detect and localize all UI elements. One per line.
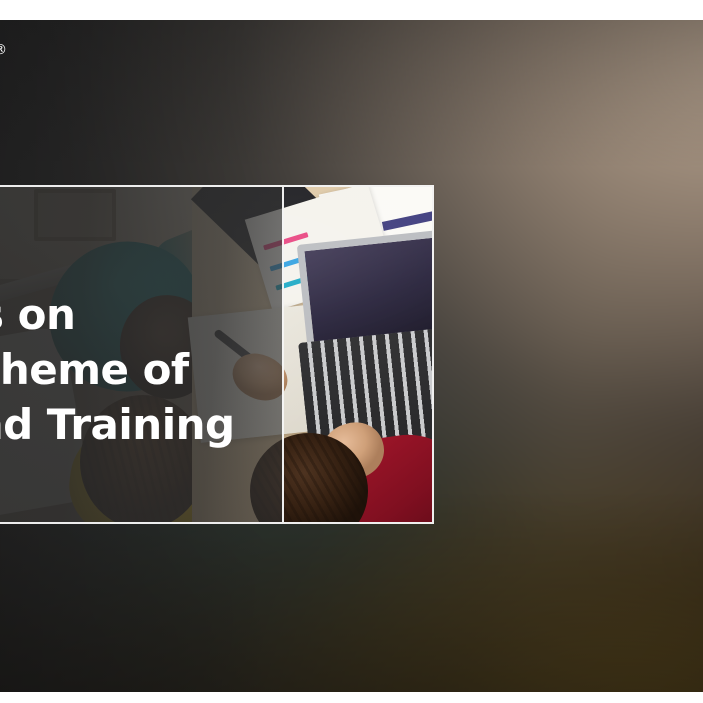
card-divider <box>282 187 284 522</box>
letterbox-top <box>0 0 703 20</box>
card-text-block: dates on ed Scheme of on and Training <box>0 287 284 452</box>
letterbox-bottom <box>0 692 703 703</box>
headline-line-2: ed Scheme of <box>0 342 284 397</box>
featured-article-card[interactable]: dates on ed Scheme of on and Training <box>0 185 434 524</box>
registered-trademark-icon: ® <box>0 43 7 57</box>
headline-line-3: on and Training <box>0 397 284 452</box>
card-headline: dates on ed Scheme of on and Training <box>0 287 284 452</box>
screenshot-canvas: dates on ed Scheme of on and Training N®… <box>0 0 703 703</box>
headline-line-1: dates on <box>0 287 284 342</box>
